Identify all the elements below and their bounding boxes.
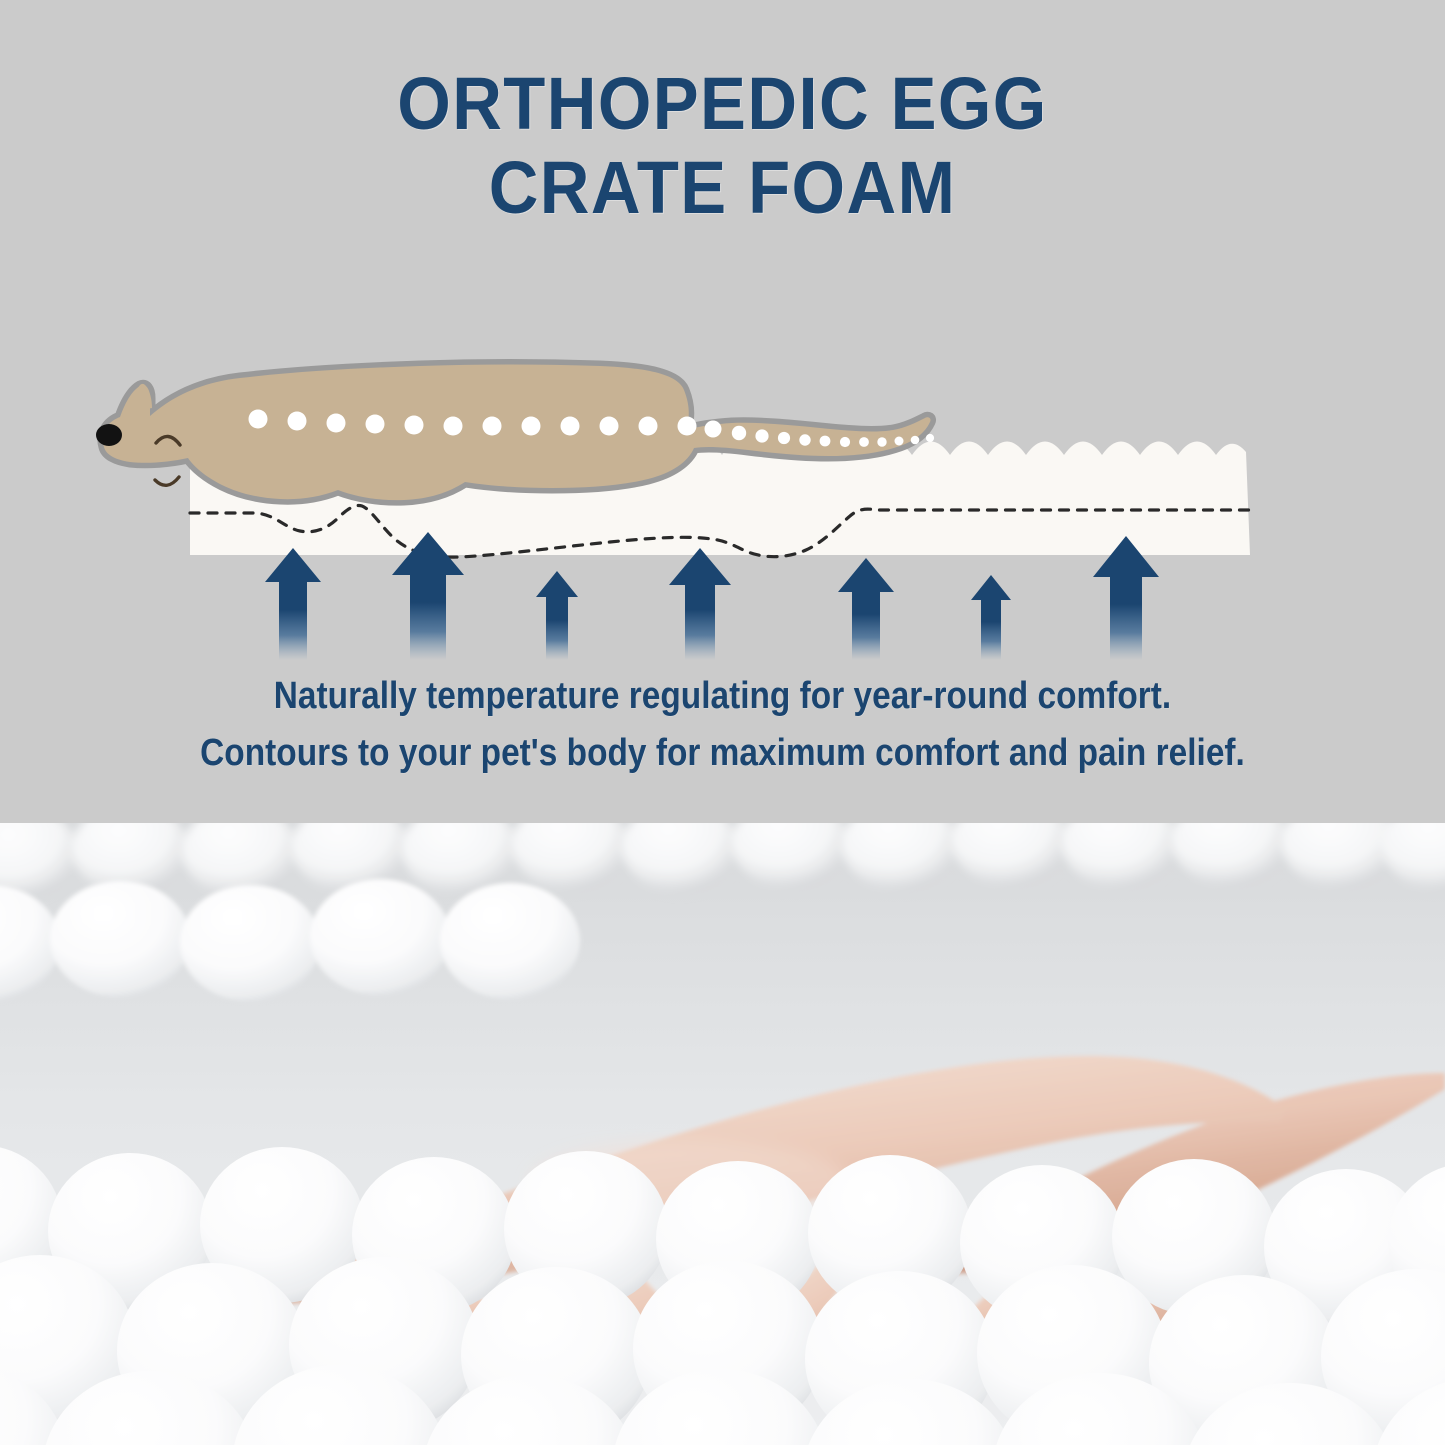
- info-panel: ORTHOPEDIC EGG CRATE FOAM: [0, 0, 1445, 823]
- caption-block: Naturally temperature regulating for yea…: [0, 668, 1445, 782]
- support-arrow: [536, 571, 578, 660]
- page-title: ORTHOPEDIC EGG CRATE FOAM: [0, 62, 1445, 230]
- support-arrow: [669, 548, 731, 660]
- dog-nose: [96, 424, 122, 446]
- support-arrow: [265, 548, 321, 660]
- photo-canvas: [0, 823, 1445, 1445]
- dog-muzzle: [155, 477, 179, 485]
- photo-grade: [0, 823, 1445, 1445]
- foam-illustration: [0, 290, 1445, 660]
- product-photo: [0, 823, 1445, 1445]
- title-line-2: CRATE FOAM: [51, 146, 1395, 230]
- support-arrow: [971, 575, 1011, 660]
- caption-line-2: Contours to your pet's body for maximum …: [87, 725, 1359, 782]
- support-arrow: [838, 558, 894, 660]
- caption-line-1: Naturally temperature regulating for yea…: [87, 668, 1359, 725]
- infographic-root: ORTHOPEDIC EGG CRATE FOAM: [0, 0, 1445, 1445]
- title-line-1: ORTHOPEDIC EGG: [51, 62, 1395, 146]
